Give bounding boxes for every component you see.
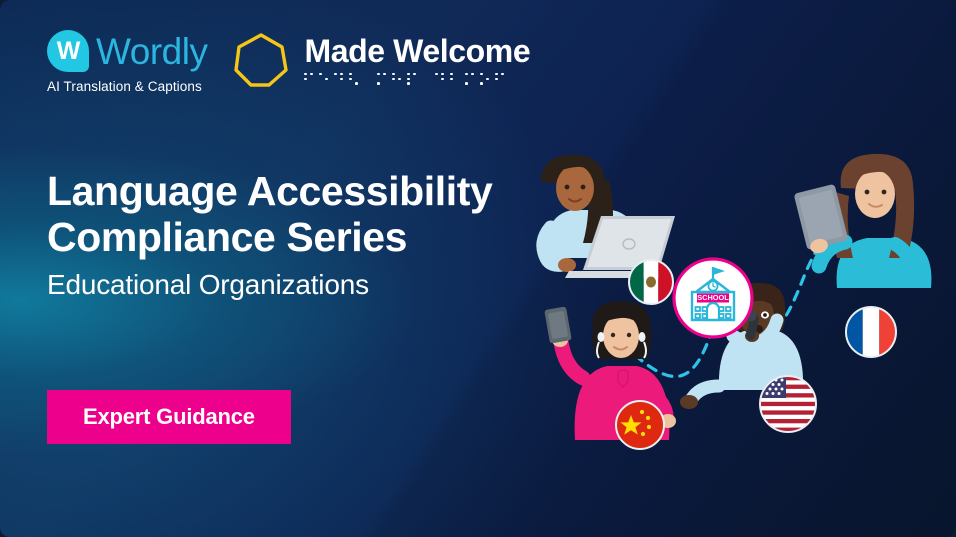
headline-block: Language Accessibility Compliance Series… xyxy=(47,168,492,301)
headline-line-1: Language Accessibility xyxy=(47,168,492,214)
flag-badge-mexico xyxy=(629,260,673,304)
wordly-mark-letter: W xyxy=(57,39,80,64)
wordly-logo[interactable]: W Wordly AI Translation & Captions xyxy=(47,30,207,94)
made-welcome-logo[interactable]: Made Welcome xyxy=(233,30,530,88)
flag-badge-china xyxy=(616,401,664,449)
wordly-tagline: AI Translation & Captions xyxy=(47,79,207,94)
illustration: SCHOOL xyxy=(505,140,956,450)
wordly-speech-bubble-icon: W xyxy=(47,30,89,72)
flag-badge-france xyxy=(846,307,896,357)
expert-guidance-button[interactable]: Expert Guidance xyxy=(47,390,291,444)
headline-line-2: Compliance Series xyxy=(47,214,492,260)
logo-bar: W Wordly AI Translation & Captions Made … xyxy=(47,30,530,94)
wordly-logo-row: W Wordly xyxy=(47,30,207,72)
made-welcome-text: Made Welcome xyxy=(304,35,530,86)
heptagon-icon xyxy=(233,32,289,88)
braille-caption xyxy=(304,73,530,86)
school-icon-badge: SCHOOL xyxy=(674,259,752,337)
school-label: SCHOOL xyxy=(697,293,729,302)
made-welcome-wordmark: Made Welcome xyxy=(304,35,530,67)
headline-subtitle: Educational Organizations xyxy=(47,268,492,302)
wordly-wordmark: Wordly xyxy=(96,33,207,70)
flag-badge-usa xyxy=(760,376,816,432)
slide-canvas: W Wordly AI Translation & Captions Made … xyxy=(0,0,956,537)
person-woman-with-tablet xyxy=(794,154,932,288)
